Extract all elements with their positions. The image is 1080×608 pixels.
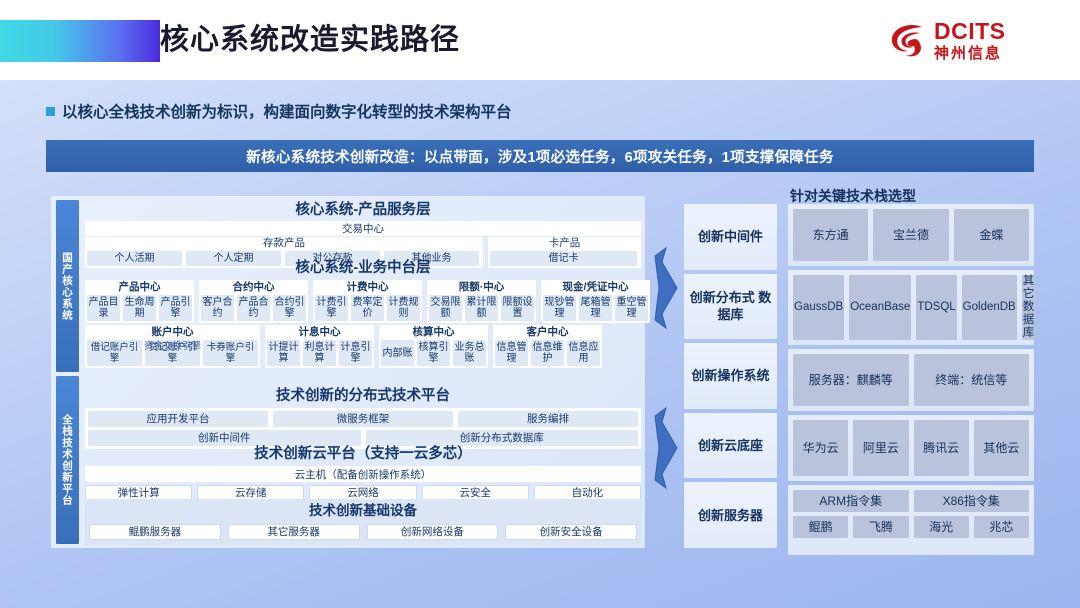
cloud-platform: 技术创新云平台（支持一云多芯） 云主机（配备创新操作系统） 弹性计算 云存储 云… bbox=[85, 444, 641, 501]
product-layer-title: 核心系统-产品服务层 bbox=[85, 200, 641, 220]
group-title: 卡产品 bbox=[490, 237, 639, 250]
center-items: 信息管理 信息维护 信息应用 bbox=[495, 340, 600, 366]
tech-item[interactable]: 服务编排 bbox=[458, 411, 638, 427]
innovation-category-column: 创新中间件 创新分布式 数据库 创新操作系统 创新云底座 创新服务器 bbox=[684, 204, 777, 548]
tech-stack-os-block: 服务器：麒麟等 终端：统信等 bbox=[788, 349, 1034, 411]
center-item[interactable]: 借记账户引擎 bbox=[87, 340, 142, 366]
center-card-account: 账户中心 借记账户引擎 贷记账户引擎 卡券账户引擎 资金交换引擎 bbox=[85, 325, 260, 368]
tech-stack-selection-title: 针对关键技术栈选型 bbox=[790, 186, 916, 206]
square-bullet-icon bbox=[46, 107, 55, 116]
center-card-cash-voucher: 现金/凭证中心 现钞管理 尾箱管理 重空管理 bbox=[541, 280, 650, 323]
tech-item[interactable]: 应用开发平台 bbox=[88, 411, 268, 427]
center-item[interactable]: 计费规则 bbox=[387, 295, 420, 321]
section-bullet: 以核心全栈技术创新为标识，构建面向数字化转型的技术架构平台 bbox=[46, 100, 512, 122]
vendor-chip[interactable]: GaussDB bbox=[793, 275, 844, 340]
center-item[interactable]: 卡券账户引擎 bbox=[203, 340, 258, 366]
highlight-banner: 新核心系统技术创新改造：以点带面，涉及1项必选任务，6项攻关任务，1项支撑保障任… bbox=[46, 140, 1034, 172]
center-title: 合约中心 bbox=[201, 281, 306, 294]
arrow-right-icon bbox=[653, 246, 679, 330]
logo-en-text: DCITS bbox=[934, 20, 1006, 43]
center-item[interactable]: 尾箱管理 bbox=[579, 295, 612, 321]
center-item[interactable]: 产品目录 bbox=[87, 295, 120, 321]
tech-stack-database-block: GaussDB OceanBase TDSQL GoldenDB 其它数据库 bbox=[788, 270, 1034, 345]
tech-item[interactable]: 微服务框架 bbox=[273, 411, 453, 427]
center-item[interactable]: 限额设置 bbox=[501, 295, 534, 321]
infrastructure-layer: 技术创新基础设备 鲲鹏服务器 其它服务器 创新网络设备 创新安全设备 bbox=[85, 499, 641, 545]
architecture-panel: 国产核心系统 全栈技术创新平台 核心系统-产品服务层 交易中心 存款产品 个人活… bbox=[51, 196, 645, 548]
center-items: 现钞管理 尾箱管理 重空管理 bbox=[543, 295, 648, 321]
center-item[interactable]: 交易限额 bbox=[429, 295, 462, 321]
infrastructure-item[interactable]: 其它服务器 bbox=[228, 524, 360, 540]
vendor-chip[interactable]: 金蝶 bbox=[954, 209, 1029, 261]
infrastructure-item[interactable]: 创新安全设备 bbox=[505, 524, 637, 540]
tech-stack-server-block: ARM指令集 X86指令集 鲲鹏 飞腾 海光 兆芯 bbox=[788, 485, 1034, 555]
tech-stack-middleware-block: 东方通 宝兰德 金蝶 bbox=[788, 204, 1034, 266]
isa-chip[interactable]: ARM指令集 bbox=[793, 490, 909, 512]
vendor-chip[interactable]: 服务器：麒麟等 bbox=[793, 354, 909, 406]
vertical-label-fullstack-platform: 全栈技术创新平台 bbox=[56, 376, 79, 544]
cloud-vendor-row: 华为云 阿里云 腾讯云 其他云 bbox=[793, 420, 1029, 476]
distributed-tech-platform: 技术创新的分布式技术平台 应用开发平台 微服务框架 服务编排 创新中间件 创新分… bbox=[85, 386, 641, 449]
center-item[interactable]: 计提计算 bbox=[267, 340, 300, 366]
fund-exchange-engine-overlay: 资金交换引擎 bbox=[144, 338, 201, 352]
center-item[interactable]: 累计限额 bbox=[465, 295, 498, 321]
center-card-product: 产品中心 产品目录 生命周期 产品引擎 bbox=[85, 280, 194, 323]
center-item[interactable]: 核算引擎 bbox=[417, 340, 450, 366]
center-item[interactable]: 业务总账 bbox=[453, 340, 486, 366]
vendor-chip[interactable]: OceanBase bbox=[849, 275, 911, 340]
business-row-1: 产品中心 产品目录 生命周期 产品引擎 合约中心 客户合约 产品合约 合约引擎 … bbox=[85, 280, 641, 323]
center-item[interactable]: 信息管理 bbox=[495, 340, 528, 366]
vendor-chip[interactable]: 宝兰德 bbox=[873, 209, 948, 261]
center-card-billing: 计费中心 计费引擎 费率定价 计费规则 bbox=[313, 280, 422, 323]
innovation-item-os[interactable]: 创新操作系统 bbox=[684, 343, 777, 409]
business-row-2: 账户中心 借记账户引擎 贷记账户引擎 卡券账户引擎 资金交换引擎 计息中心 计提… bbox=[85, 325, 641, 368]
vertical-label-core-system: 国产核心系统 bbox=[56, 200, 79, 372]
vendor-chip[interactable]: 阿里云 bbox=[853, 420, 908, 476]
center-card-interest: 计息中心 计提计算 利息计算 计息引擎 bbox=[265, 325, 374, 368]
center-item[interactable]: 信息维护 bbox=[531, 340, 564, 366]
chip-vendor[interactable]: 鲲鹏 bbox=[793, 516, 848, 538]
vendor-chip[interactable]: GoldenDB bbox=[962, 275, 1017, 340]
vendor-chip[interactable]: TDSQL bbox=[916, 275, 956, 340]
cloud-host-bar: 云主机（配备创新操作系统） bbox=[85, 466, 641, 482]
innovation-item-cloud-base[interactable]: 创新云底座 bbox=[684, 413, 777, 479]
center-title: 核算中心 bbox=[381, 326, 486, 339]
center-items: 计提计算 利息计算 计息引擎 bbox=[267, 340, 372, 366]
center-title: 计息中心 bbox=[267, 326, 372, 339]
center-item[interactable]: 计费引擎 bbox=[315, 295, 348, 321]
center-item[interactable]: 费率定价 bbox=[351, 295, 384, 321]
cloud-platform-title: 技术创新云平台（支持一云多芯） bbox=[85, 444, 641, 464]
center-card-limit: 限额·中心 交易限额 累计限额 限额设置 bbox=[427, 280, 536, 323]
center-card-accounting: 核算中心 内部账 核算引擎 业务总账 bbox=[379, 325, 488, 368]
center-item[interactable]: 合约引擎 bbox=[273, 295, 306, 321]
center-card-contract: 合约中心 客户合约 产品合约 合约引擎 bbox=[199, 280, 308, 323]
section-bullet-text: 以核心全栈技术创新为标识，构建面向数字化转型的技术架构平台 bbox=[62, 100, 512, 122]
infrastructure-items: 鲲鹏服务器 其它服务器 创新网络设备 创新安全设备 bbox=[89, 524, 637, 540]
center-item[interactable]: 产品合约 bbox=[237, 295, 270, 321]
center-title: 计费中心 bbox=[315, 281, 420, 294]
infrastructure-item[interactable]: 创新网络设备 bbox=[367, 524, 499, 540]
center-item[interactable]: 利息计算 bbox=[303, 340, 336, 366]
business-middle-layer: 核心系统-业务中台层 产品中心 产品目录 生命周期 产品引擎 合约中心 客户合约… bbox=[85, 258, 641, 368]
tech-platform-row-1: 应用开发平台 微服务框架 服务编排 bbox=[88, 411, 638, 427]
banner-text: 新核心系统技术创新改造：以点带面，涉及1项必选任务，6项攻关任务，1项支撑保障任… bbox=[246, 146, 834, 167]
innovation-item-middleware[interactable]: 创新中间件 bbox=[684, 204, 777, 270]
infrastructure-title: 技术创新基础设备 bbox=[89, 501, 637, 521]
center-item[interactable]: 生命周期 bbox=[123, 295, 156, 321]
innovation-item-server[interactable]: 创新服务器 bbox=[684, 482, 777, 548]
page-title: 核心系统改造实践路径 bbox=[160, 18, 460, 62]
center-item[interactable]: 内部账 bbox=[381, 340, 414, 366]
center-card-customer: 客户中心 信息管理 信息维护 信息应用 bbox=[493, 325, 602, 368]
vendor-chip[interactable]: 终端：统信等 bbox=[914, 354, 1030, 406]
isa-row: ARM指令集 X86指令集 bbox=[793, 490, 1029, 512]
tech-stack-cloud-block: 华为云 阿里云 腾讯云 其他云 bbox=[788, 415, 1034, 481]
vendor-chip[interactable]: 其他云 bbox=[974, 420, 1029, 476]
chip-vendor-row: 鲲鹏 飞腾 海光 兆芯 bbox=[793, 516, 1029, 538]
center-title: 现金/凭证中心 bbox=[543, 281, 648, 294]
infrastructure-item[interactable]: 鲲鹏服务器 bbox=[89, 524, 221, 540]
group-title: 存款产品 bbox=[87, 237, 481, 250]
tech-stack-column: 东方通 宝兰德 金蝶 GaussDB OceanBase TDSQL Golde… bbox=[788, 204, 1034, 548]
os-vendor-row: 服务器：麒麟等 终端：统信等 bbox=[793, 354, 1029, 406]
center-title: 客户中心 bbox=[495, 326, 600, 339]
center-items: 内部账 核算引擎 业务总账 bbox=[381, 340, 486, 366]
tech-platform-title: 技术创新的分布式技术平台 bbox=[85, 386, 641, 406]
tech-platform-body: 应用开发平台 微服务框架 服务编排 创新中间件 创新分布式数据库 bbox=[85, 408, 641, 449]
header-accent-bar bbox=[0, 20, 160, 62]
center-item[interactable]: 信息应用 bbox=[567, 340, 600, 366]
center-items: 计费引擎 费率定价 计费规则 bbox=[315, 295, 420, 321]
chip-vendor[interactable]: 兆芯 bbox=[974, 516, 1029, 538]
vendor-chip[interactable]: 腾讯云 bbox=[914, 420, 969, 476]
center-items: 产品目录 生命周期 产品引擎 bbox=[87, 295, 192, 321]
dcits-logo: DCITS 神州信息 bbox=[888, 16, 1038, 64]
isa-chip[interactable]: X86指令集 bbox=[914, 490, 1030, 512]
center-item[interactable]: 重空管理 bbox=[615, 295, 648, 321]
business-layer-title: 核心系统-业务中台层 bbox=[85, 258, 641, 278]
center-item[interactable]: 客户合约 bbox=[201, 295, 234, 321]
center-item[interactable]: 现钞管理 bbox=[543, 295, 576, 321]
vendor-chip[interactable]: 其它数据库 bbox=[1022, 275, 1036, 340]
vendor-chip[interactable]: 华为云 bbox=[793, 420, 848, 476]
center-items: 交易限额 累计限额 限额设置 bbox=[429, 295, 534, 321]
dcits-swirl-icon bbox=[888, 20, 928, 60]
innovation-item-distributed-db[interactable]: 创新分布式 数据库 bbox=[684, 274, 777, 340]
center-item[interactable]: 计息引擎 bbox=[339, 340, 372, 366]
center-items: 客户合约 产品合约 合约引擎 bbox=[201, 295, 306, 321]
logo-cn-text: 神州信息 bbox=[934, 46, 1006, 61]
center-item[interactable]: 产品引擎 bbox=[159, 295, 192, 321]
page-header: 核心系统改造实践路径 DCITS 神州信息 bbox=[0, 0, 1080, 80]
trade-center-bar: 交易中心 bbox=[85, 221, 641, 236]
arrow-right-icon bbox=[653, 406, 679, 490]
chip-vendor[interactable]: 飞腾 bbox=[853, 516, 908, 538]
center-title: 限额·中心 bbox=[429, 281, 534, 294]
vendor-chip[interactable]: 东方通 bbox=[793, 209, 868, 261]
database-vendor-row: GaussDB OceanBase TDSQL GoldenDB 其它数据库 bbox=[793, 275, 1029, 340]
middleware-vendor-row: 东方通 宝兰德 金蝶 bbox=[793, 209, 1029, 261]
center-title: 产品中心 bbox=[87, 281, 192, 294]
chip-vendor[interactable]: 海光 bbox=[914, 516, 969, 538]
